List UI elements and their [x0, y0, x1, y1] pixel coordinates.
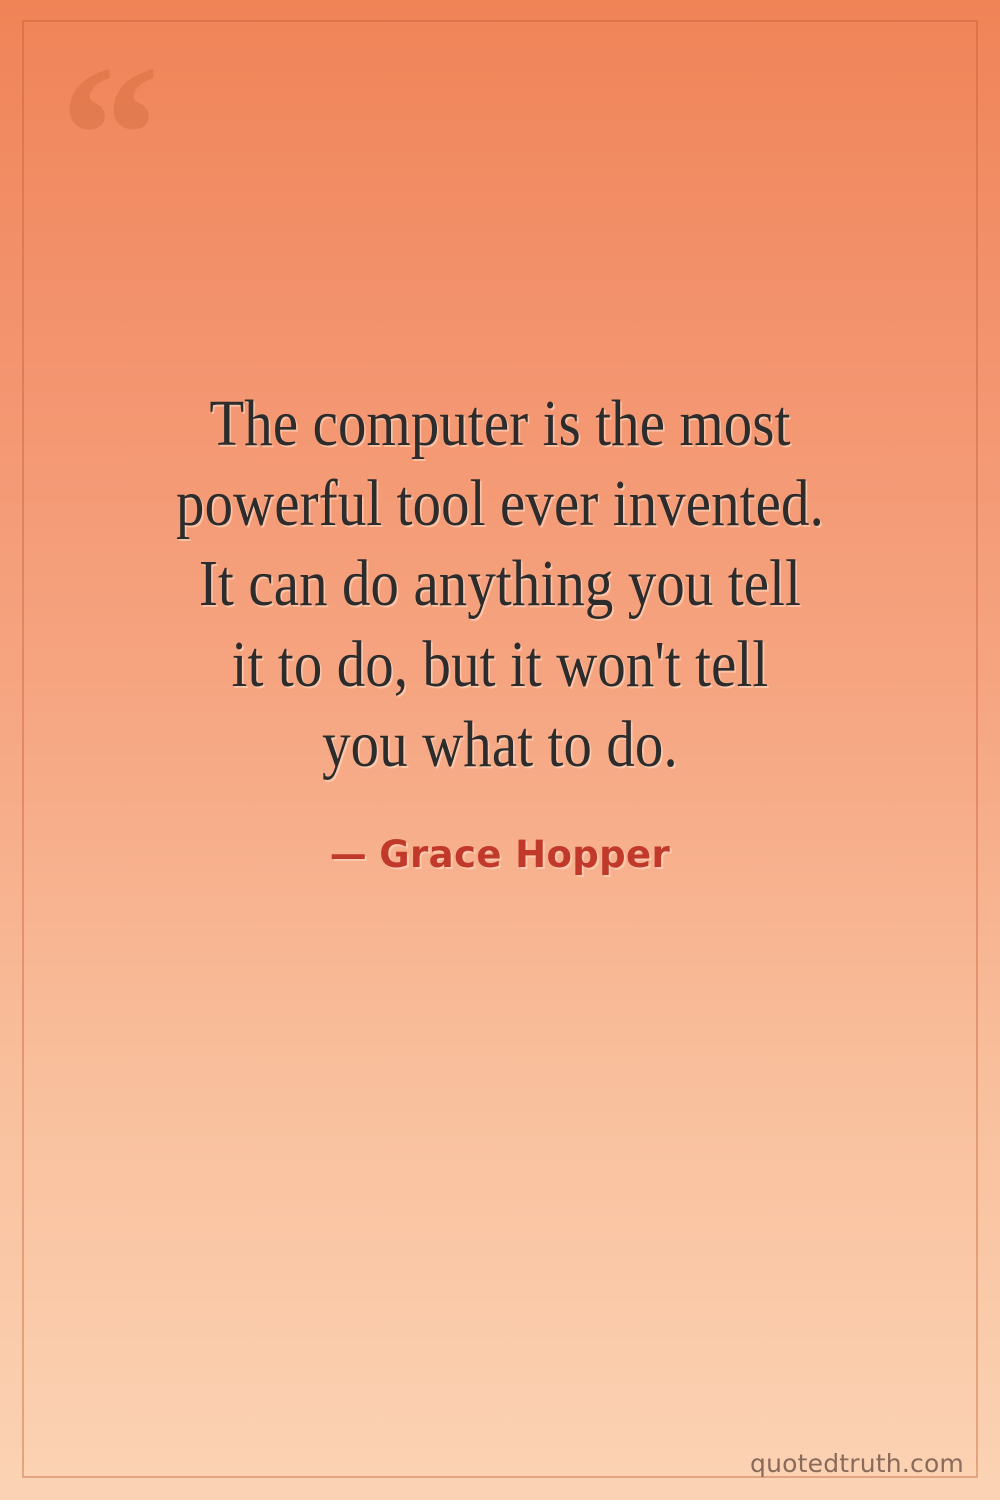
- em-dash: —: [330, 833, 367, 876]
- author-name: Grace Hopper: [379, 833, 670, 876]
- quote-card: “ The computer is the most powerful tool…: [0, 0, 1000, 1500]
- quote-content: The computer is the most powerful tool e…: [0, 0, 1000, 1500]
- quote-text: The computer is the most powerful tool e…: [143, 384, 857, 785]
- quote-attribution: —Grace Hopper: [330, 833, 670, 876]
- site-watermark: quotedtruth.com: [750, 1449, 964, 1478]
